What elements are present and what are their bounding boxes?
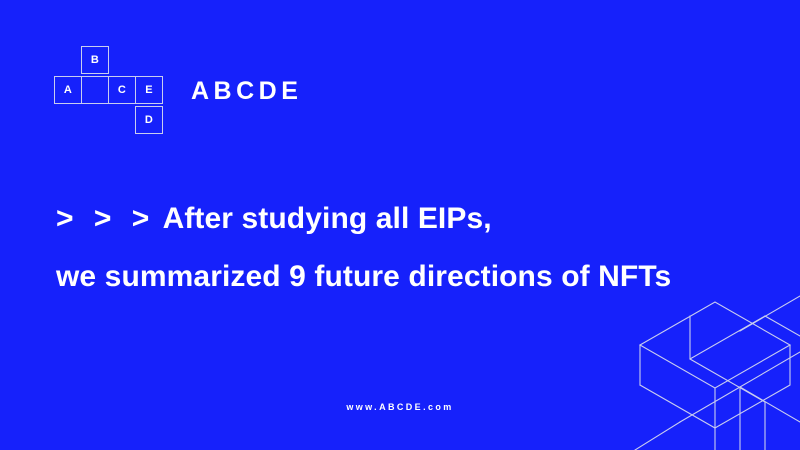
- headline-line-1: > > > After studying all EIPs,: [56, 190, 776, 248]
- brand-wordmark: ABCDE: [191, 79, 302, 106]
- headline-block: > > > After studying all EIPs, we summar…: [56, 190, 776, 306]
- slide-canvas: B A C E D ABCDE > > > After studying all…: [0, 0, 800, 450]
- chevron-prefix: > > >: [56, 202, 155, 235]
- logo-cell-blank: [81, 76, 109, 104]
- logo-cell-b: B: [81, 46, 109, 74]
- headline-line-2: we summarized 9 future directions of NFT…: [56, 248, 776, 306]
- logo-mark: B A C E D: [54, 46, 162, 138]
- logo-cell-e: E: [135, 76, 163, 104]
- headline-line-1-text: After studying all EIPs,: [163, 202, 492, 235]
- logo-cell-d: D: [135, 106, 163, 134]
- brand-lockup: B A C E D ABCDE: [54, 46, 302, 138]
- logo-cell-c: C: [108, 76, 136, 104]
- footer-url: www.ABCDE.com: [0, 402, 800, 412]
- logo-cell-a: A: [54, 76, 82, 104]
